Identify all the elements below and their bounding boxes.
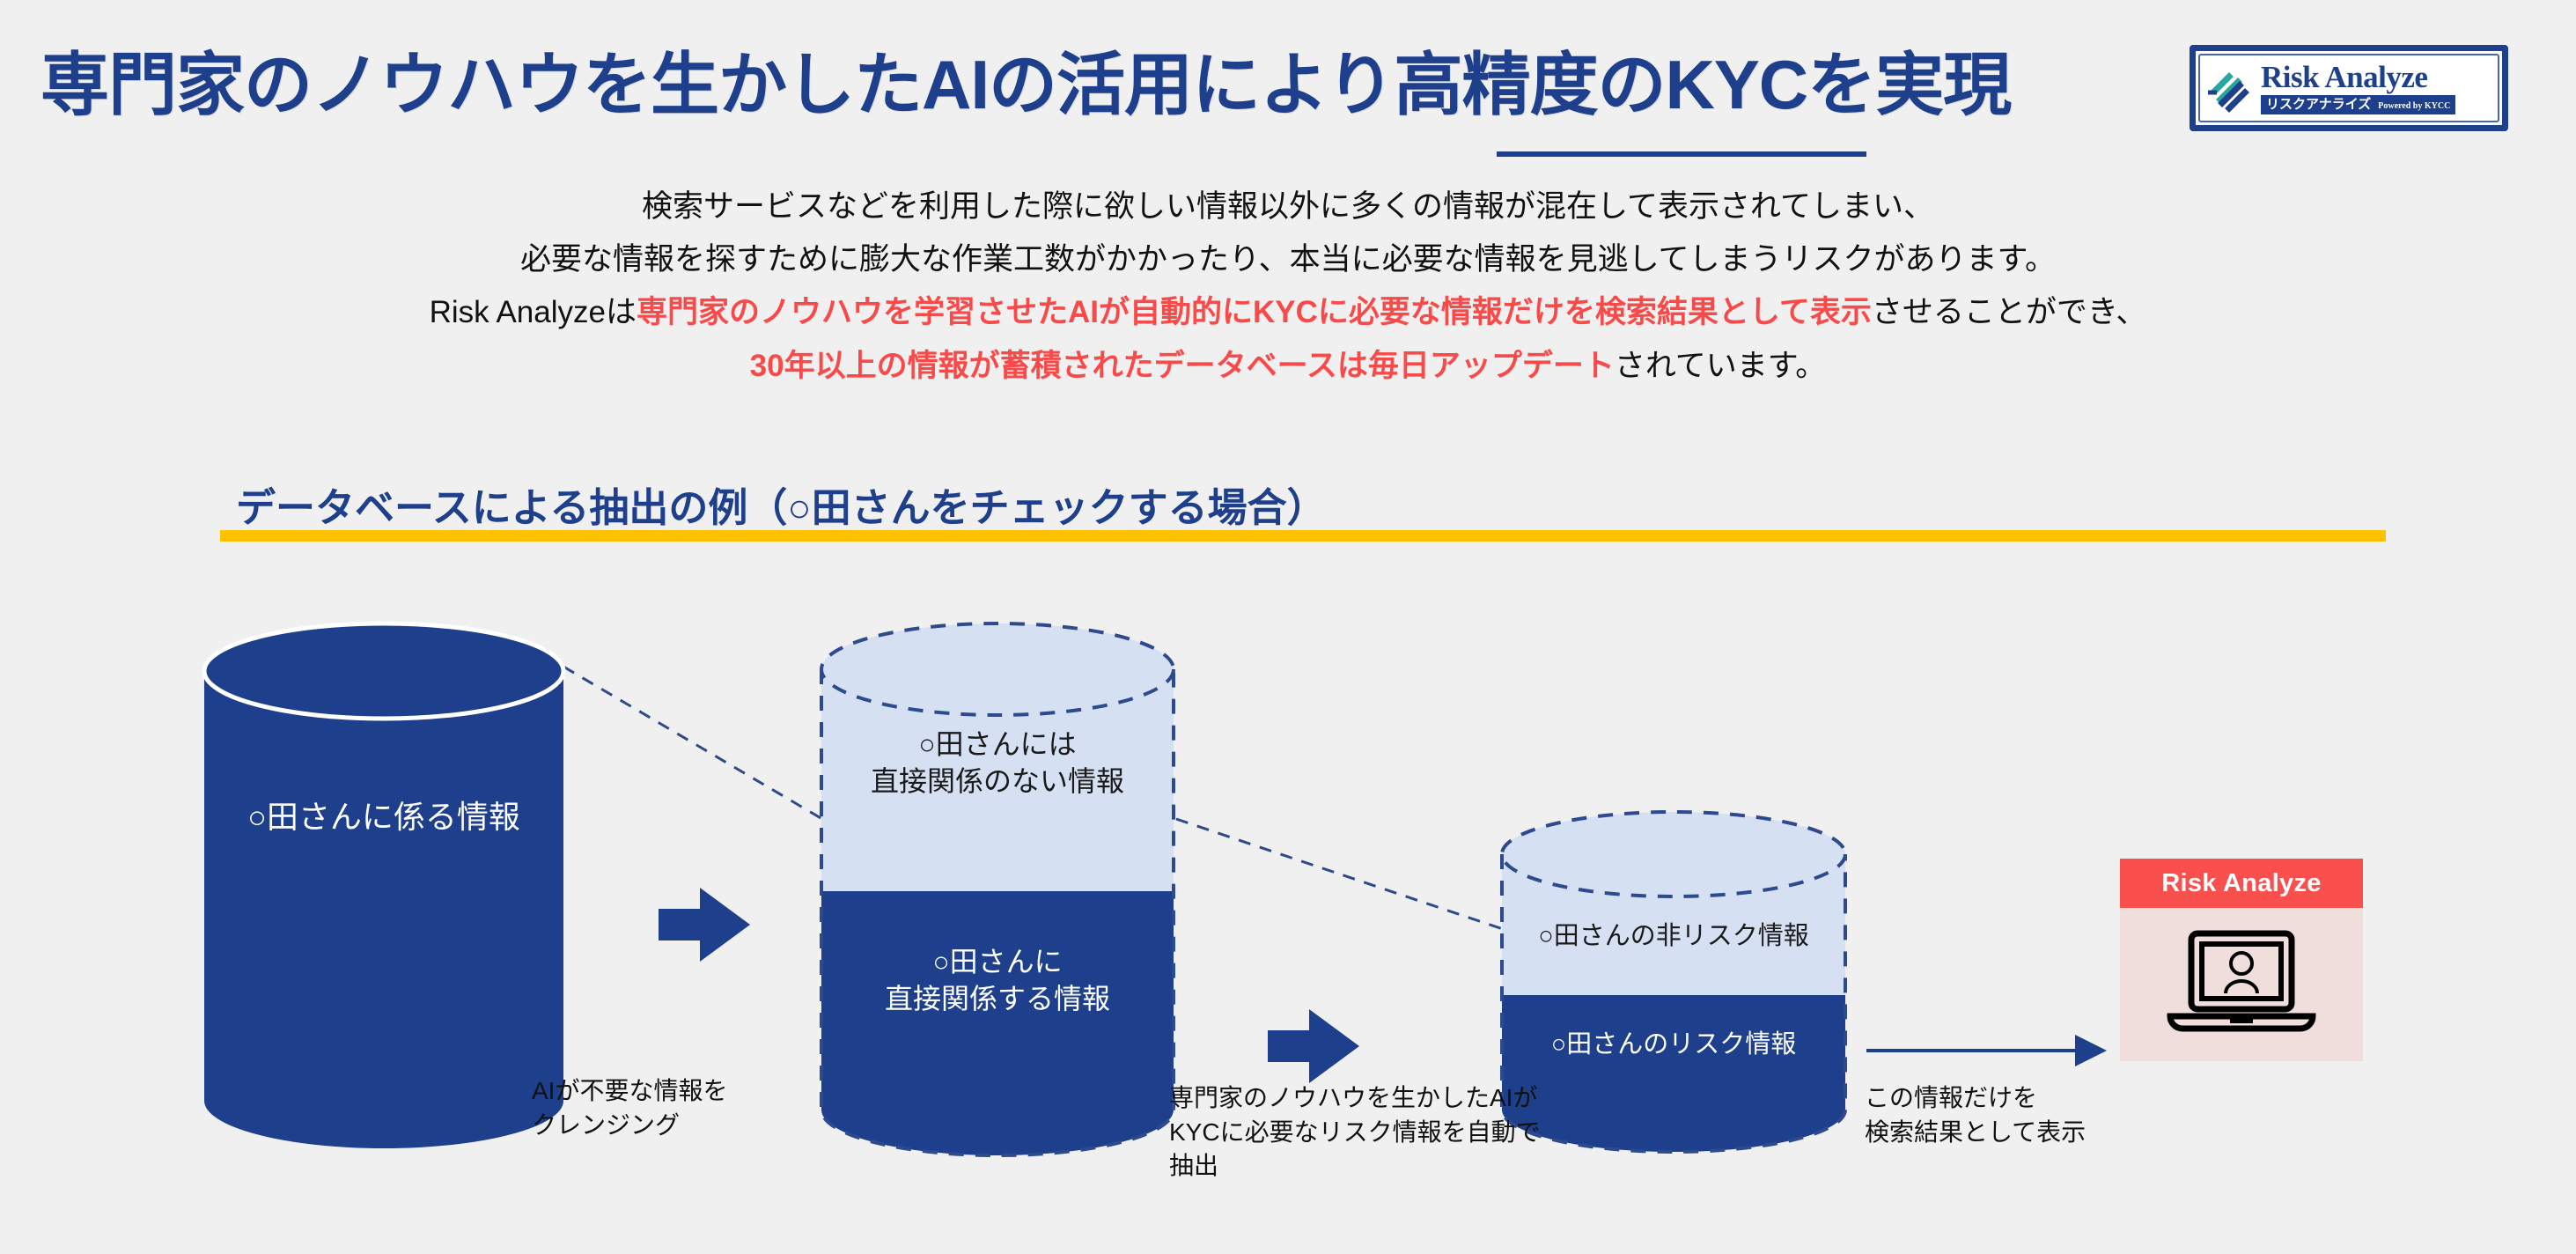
- slide-root: 専門家のノウハウを生かしたAIの活用により高精度のKYCを実現 Risk Ana…: [0, 0, 2576, 1254]
- block-arrow-right-icon-2: [1268, 1009, 1359, 1083]
- title-underline: [1497, 151, 1866, 157]
- result-card-body: [2120, 908, 2363, 1061]
- risk-analyze-logo: Risk Analyze リスクアナライズ Powered by KYCC: [2190, 45, 2508, 131]
- caption-extraction: 専門家のノウハウを生かしたAIが KYCに必要なリスク情報を自動で 抽出: [1169, 1081, 1541, 1184]
- logo-text-block: Risk Analyze リスクアナライズ Powered by KYCC: [2261, 62, 2455, 114]
- logo-kana: リスクアナライズ: [2266, 96, 2371, 114]
- lead-paragraph: 検索サービスなどを利用した際に欲しい情報以外に多くの情報が混在して表示されてしま…: [0, 181, 2576, 393]
- result-card-title: Risk Analyze: [2120, 859, 2363, 908]
- lead-line-3-highlight: 専門家のノウハウを学習させたAIが自動的にKYCに必要な情報だけを検索結果として…: [637, 295, 1872, 329]
- cylinder-1: [204, 623, 563, 1148]
- lead-line-4-suffix: されています。: [1615, 349, 1826, 383]
- lead-line-4-highlight: 30年以上の情報が蓄積されたデータベースは毎日アップデート: [750, 349, 1615, 383]
- risk-analyze-mark-icon: [2203, 61, 2257, 115]
- lead-line-3-suffix: させることができ、: [1872, 295, 2147, 329]
- lead-line-1: 検索サービスなどを利用した際に欲しい情報以外に多くの情報が混在して表示されてしま…: [0, 181, 2576, 233]
- section-underline: [220, 530, 2386, 542]
- caption-display: この情報だけを 検索結果として表示: [1865, 1081, 2086, 1149]
- logo-name: Risk Analyze: [2261, 62, 2455, 92]
- lead-line-2: 必要な情報を探すために膨大な作業工数がかかったり、本当に必要な情報を見逃してしま…: [0, 233, 2576, 286]
- logo-subtitle: リスクアナライズ Powered by KYCC: [2261, 95, 2455, 114]
- lead-line-3: Risk Analyzeは専門家のノウハウを学習させたAIが自動的にKYCに必要…: [0, 286, 2576, 339]
- risk-analyze-result-card: Risk Analyze: [2120, 859, 2363, 1061]
- lead-line-4: 30年以上の情報が蓄積されたデータベースは毎日アップデートされています。: [0, 340, 2576, 393]
- cylinder-3: [1502, 812, 1845, 1171]
- page-title: 専門家のノウハウを生かしたAIの活用により高精度のKYCを実現: [40, 30, 2011, 129]
- laptop-user-icon: [2158, 921, 2325, 1049]
- block-arrow-right-icon-1: [659, 888, 750, 962]
- lead-line-3-prefix: Risk Analyzeは: [430, 295, 637, 329]
- caption-cleansing: AIが不要な情報を クレンジング: [532, 1074, 727, 1142]
- cylinder-2: [821, 623, 1174, 1155]
- section-heading: データベースによる抽出の例（○田さんをチェックする場合）: [236, 476, 1327, 533]
- logo-powered-by: Powered by KYCC: [2378, 100, 2450, 113]
